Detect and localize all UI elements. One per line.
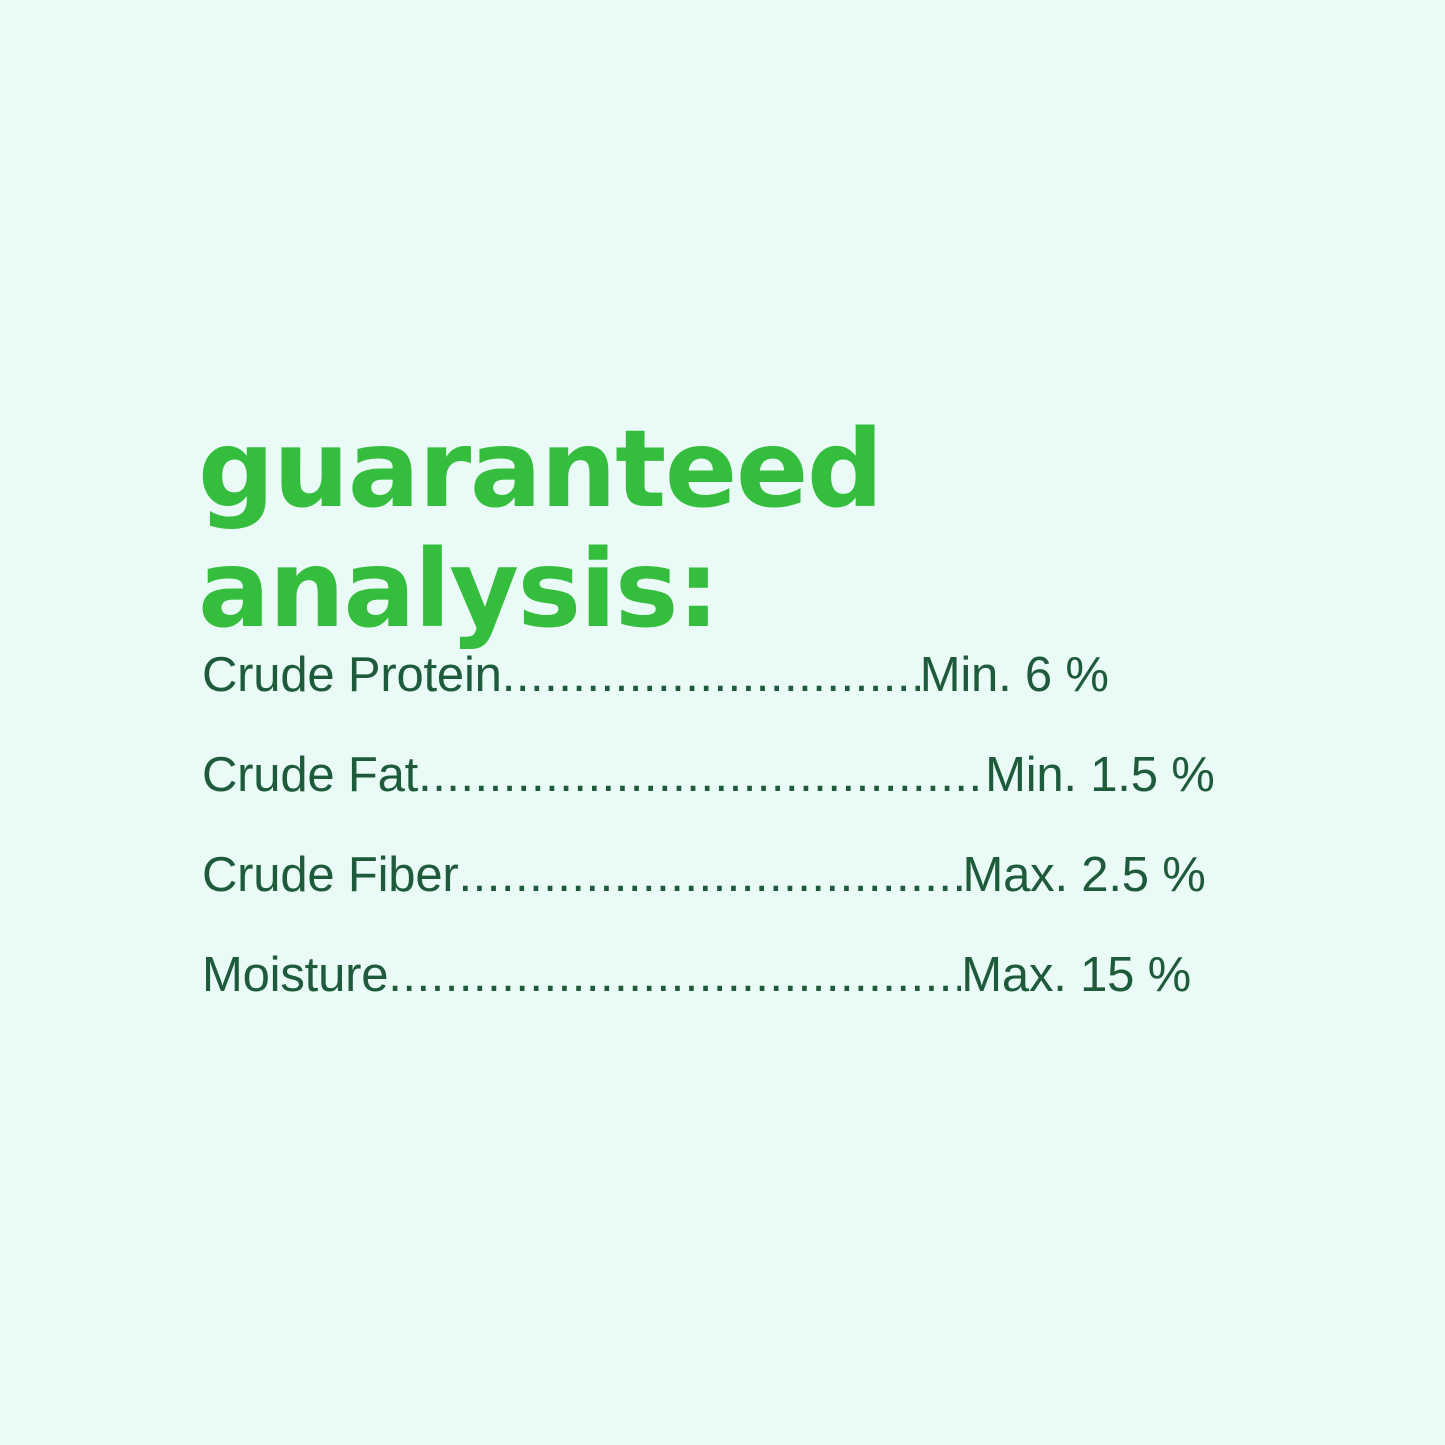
list-item: Crude Fiber ............................…	[202, 848, 1352, 948]
guaranteed-analysis-list: Crude Protein ..........................…	[202, 648, 1352, 1048]
nutrient-value: Min. 6 %	[920, 648, 1109, 702]
dot-leader: ........................................…	[502, 648, 920, 702]
list-item: Crude Fat ..............................…	[202, 748, 1352, 848]
dot-leader: ........................................…	[459, 848, 963, 902]
nutrient-value: Min. 1.5 %	[985, 748, 1214, 802]
nutrient-label: Crude Protein	[202, 648, 502, 702]
dot-leader: ........................................…	[418, 748, 985, 802]
dot-leader: ........................................…	[388, 948, 961, 1002]
guaranteed-analysis-panel: guaranteed analysis: Crude Protein .....…	[0, 0, 1445, 1445]
list-item: Moisture ...............................…	[202, 948, 1352, 1048]
nutrient-value: Max. 2.5 %	[963, 848, 1206, 902]
list-item: Crude Protein ..........................…	[202, 648, 1352, 748]
nutrient-label: Moisture	[202, 948, 388, 1002]
page-title: guaranteed analysis:	[198, 410, 1298, 650]
nutrient-label: Crude Fat	[202, 748, 418, 802]
nutrient-value: Max. 15 %	[961, 948, 1191, 1002]
nutrient-label: Crude Fiber	[202, 848, 459, 902]
